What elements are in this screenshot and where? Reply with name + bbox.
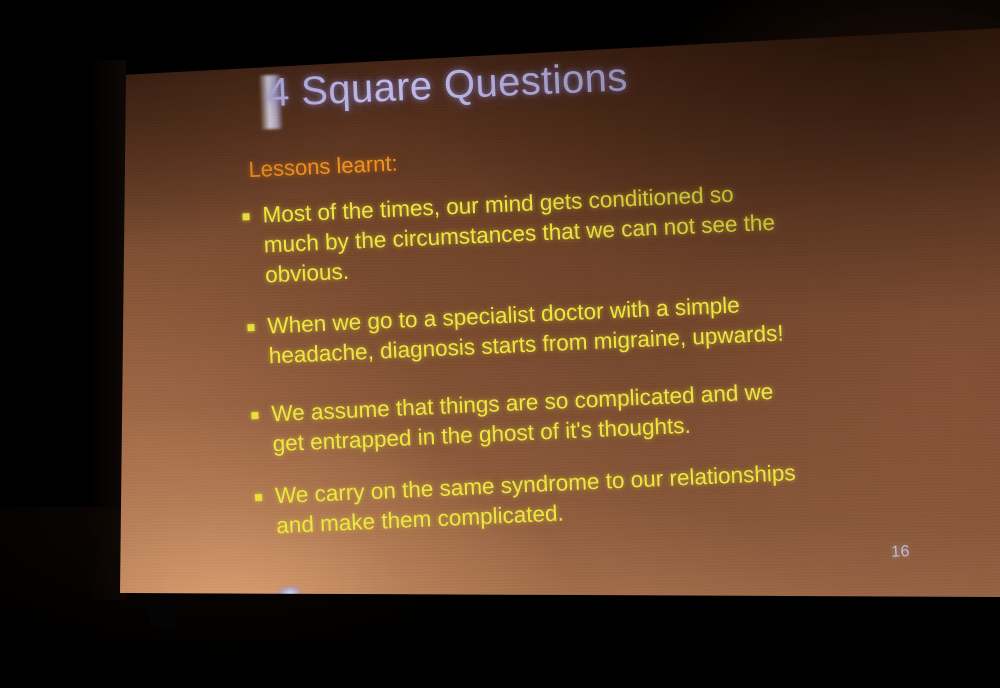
bullet-text: We assume that things are so complicated… — [271, 377, 776, 459]
bullet-text: When we go to a specialist doctor with a… — [267, 289, 784, 372]
slide-page-number: 16 — [891, 543, 911, 562]
square-bullet-icon — [242, 213, 249, 220]
bullet-item: Most of the times, our mind gets conditi… — [242, 178, 777, 292]
slide-title: 4 Square Questions — [266, 55, 628, 116]
square-bullet-icon — [247, 324, 254, 331]
bullet-item: We assume that things are so complicated… — [251, 377, 776, 460]
bullet-text: We carry on the same syndrome to our rel… — [274, 458, 797, 541]
square-bullet-icon — [255, 494, 262, 501]
bullet-item: When we go to a specialist doctor with a… — [247, 289, 784, 373]
projection-screen: 4 Square Questions Lessons learnt: Most … — [0, 0, 1000, 667]
bullet-text: Most of the times, our mind gets conditi… — [262, 178, 777, 291]
room-shadow-left — [88, 60, 126, 600]
bullet-item: We carry on the same syndrome to our rel… — [254, 458, 797, 542]
section-label-lessons-learnt: Lessons learnt: — [248, 151, 398, 184]
slide-content: 4 Square Questions Lessons learnt: Most … — [0, 0, 1000, 688]
slide-surface: 4 Square Questions Lessons learnt: Most … — [0, 0, 1000, 667]
square-bullet-icon — [251, 412, 258, 419]
